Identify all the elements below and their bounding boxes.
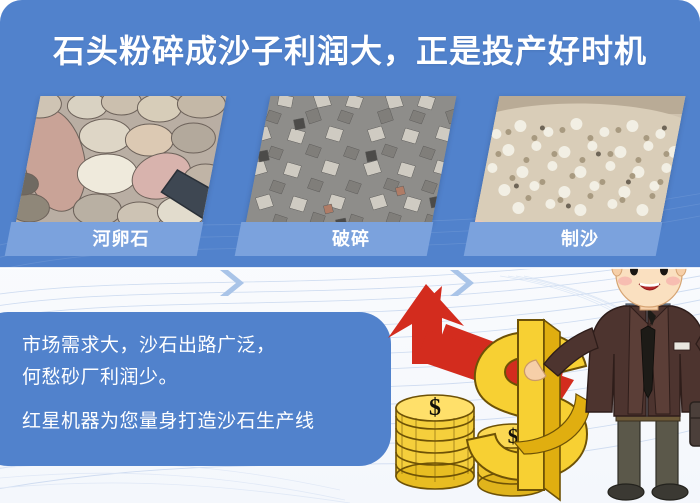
coin-dollar-glyph: $	[429, 395, 441, 421]
step-label: 河卵石	[28, 224, 214, 254]
manufactured-sand-photo	[475, 96, 686, 224]
message-line: 市场需求大，沙石出路广泛，	[22, 330, 392, 362]
process-step[interactable]: 河卵石	[28, 96, 214, 268]
process-step[interactable]: 破碎	[258, 96, 444, 268]
message-body: 市场需求大，沙石出路广泛， 何愁砂厂利润少。 红星机器为您量身打造沙石生产线	[22, 330, 392, 438]
crushed-gravel-photo	[246, 96, 457, 224]
process-step[interactable]: 制沙	[487, 96, 673, 268]
profit-illustration: $ $	[368, 268, 700, 503]
shoe	[652, 484, 688, 500]
shoe	[608, 484, 644, 500]
gold-coin-stack-icon: $	[396, 395, 474, 489]
banner-root: 石头粉碎成沙子利润大，正是投产好时机	[0, 0, 700, 503]
page-title: 石头粉碎成沙子利润大，正是投产好时机	[0, 26, 700, 72]
chevron-right-icon	[214, 266, 248, 300]
step-photo-frame	[16, 96, 227, 224]
river-pebbles-photo	[16, 96, 227, 224]
message-line: 何愁砂厂利润少。	[22, 362, 392, 394]
header-bottom-edge	[0, 267, 700, 269]
pocket-square	[674, 342, 690, 350]
step-label: 制沙	[487, 224, 673, 254]
step-photo-frame	[246, 96, 457, 224]
process-steps: 河卵石	[0, 96, 700, 268]
step-photo-frame	[475, 96, 686, 224]
cheek-blush	[666, 277, 680, 286]
step-label: 破碎	[258, 224, 444, 254]
cheek-blush	[618, 277, 632, 286]
message-closing-line: 红星机器为您量身打造沙石生产线	[22, 406, 392, 438]
